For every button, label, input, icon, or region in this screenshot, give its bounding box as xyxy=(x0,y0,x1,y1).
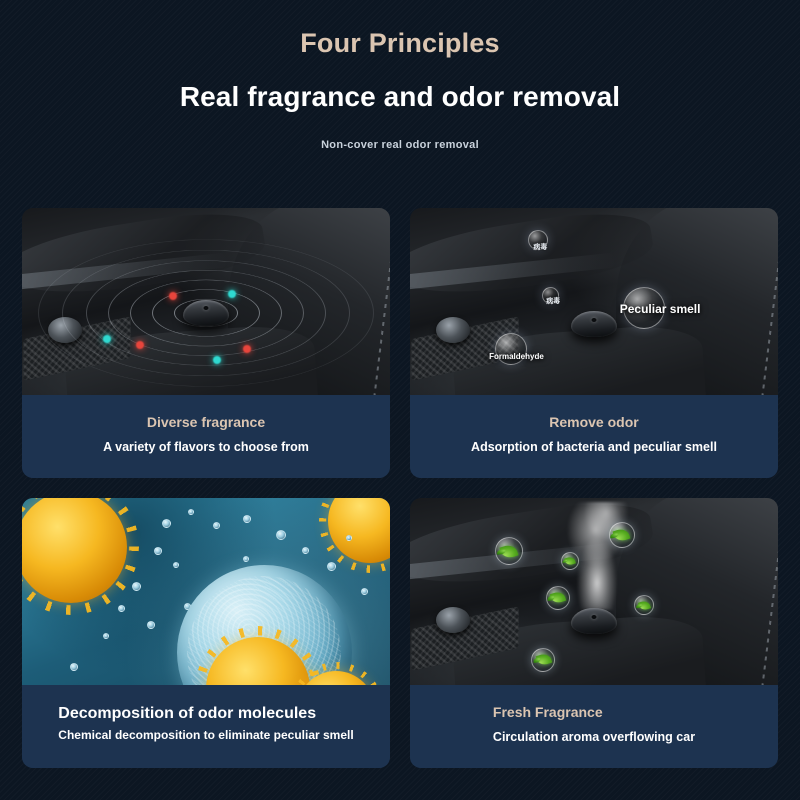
leaf-icon xyxy=(535,652,551,667)
leaf-icon xyxy=(550,591,566,606)
odor-molecule xyxy=(361,588,368,595)
odor-molecule xyxy=(276,530,286,540)
principle-card-remove-odor[interactable]: 病毒 病毒 Peculiar smell Formaldehyde Remove… xyxy=(410,208,778,478)
card-description: Adsorption of bacteria and peculiar smel… xyxy=(471,439,717,455)
odor-bubble-label: 病毒 xyxy=(546,296,560,306)
card-description: Chemical decomposition to eliminate pecu… xyxy=(58,728,353,744)
peculiar-smell-label: Peculiar smell xyxy=(620,302,701,316)
leaf-icon xyxy=(638,599,651,611)
car-diffuser-device xyxy=(571,311,617,337)
card-media-car-interior-odor: 病毒 病毒 Peculiar smell Formaldehyde xyxy=(410,208,778,395)
odor-molecule xyxy=(118,605,125,612)
card-media-car-interior-ripples xyxy=(22,208,390,395)
odor-molecule xyxy=(70,663,78,671)
seat-stitching xyxy=(761,208,778,395)
card-title: Fresh Fragrance xyxy=(493,704,695,721)
page-tagline: Non-cover real odor removal xyxy=(0,139,800,151)
fragrance-particle-red xyxy=(243,345,251,353)
odor-molecule xyxy=(162,519,171,528)
page-header: Four Principles Real fragrance and odor … xyxy=(0,0,800,151)
virus-particle xyxy=(22,498,127,603)
odor-molecule xyxy=(243,556,249,562)
card-title: Diverse fragrance xyxy=(103,414,309,431)
fragrance-leaf-bubble xyxy=(609,522,635,548)
fragrance-leaf-bubble xyxy=(531,648,555,672)
card-media-car-interior-mist xyxy=(410,498,778,685)
control-knob xyxy=(436,607,470,633)
fragrance-leaf-bubble xyxy=(546,586,570,610)
principle-card-fresh-fragrance[interactable]: Fresh Fragrance Circulation aroma overfl… xyxy=(410,498,778,768)
card-caption: Remove odor Adsorption of bacteria and p… xyxy=(410,395,778,478)
card-caption: Fresh Fragrance Circulation aroma overfl… xyxy=(410,685,778,768)
odor-molecule xyxy=(173,562,179,568)
car-diffuser-device xyxy=(571,608,617,634)
odor-molecule xyxy=(327,562,336,571)
virus-particle xyxy=(297,671,375,685)
car-diffuser-device xyxy=(183,300,229,326)
leaf-icon xyxy=(613,527,631,543)
card-caption: Diverse fragrance A variety of flavors t… xyxy=(22,395,390,478)
card-description: Circulation aroma overflowing car xyxy=(493,729,695,745)
odor-molecule xyxy=(188,509,194,515)
page-subheadline: Real fragrance and odor removal xyxy=(0,81,800,113)
leaf-icon xyxy=(564,556,576,567)
card-title: Decomposition of odor molecules xyxy=(58,705,353,724)
fragrance-leaf-bubble xyxy=(495,537,523,565)
card-description: A variety of flavors to choose from xyxy=(103,439,309,455)
control-knob xyxy=(436,317,470,343)
card-media-microbes xyxy=(22,498,390,685)
principle-card-decomposition[interactable]: Decomposition of odor molecules Chemical… xyxy=(22,498,390,768)
page-headline: Four Principles xyxy=(0,28,800,59)
card-caption: Decomposition of odor molecules Chemical… xyxy=(22,685,390,768)
seat-stitching xyxy=(761,498,778,685)
formaldehyde-label: Formaldehyde xyxy=(489,352,544,361)
principle-card-diverse-fragrance[interactable]: Diverse fragrance A variety of flavors t… xyxy=(22,208,390,478)
virus-particle xyxy=(328,498,390,563)
odor-molecule xyxy=(243,515,251,523)
principles-grid: Diverse fragrance A variety of flavors t… xyxy=(22,208,778,768)
fragrance-particle-red xyxy=(136,341,144,349)
fragrance-leaf-bubble xyxy=(561,552,579,570)
odor-molecule xyxy=(302,547,309,554)
odor-bubble-label: 病毒 xyxy=(533,242,547,252)
virus-particle xyxy=(206,637,310,685)
card-title: Remove odor xyxy=(471,414,717,431)
odor-molecule xyxy=(103,633,109,639)
leaf-icon xyxy=(499,543,518,560)
